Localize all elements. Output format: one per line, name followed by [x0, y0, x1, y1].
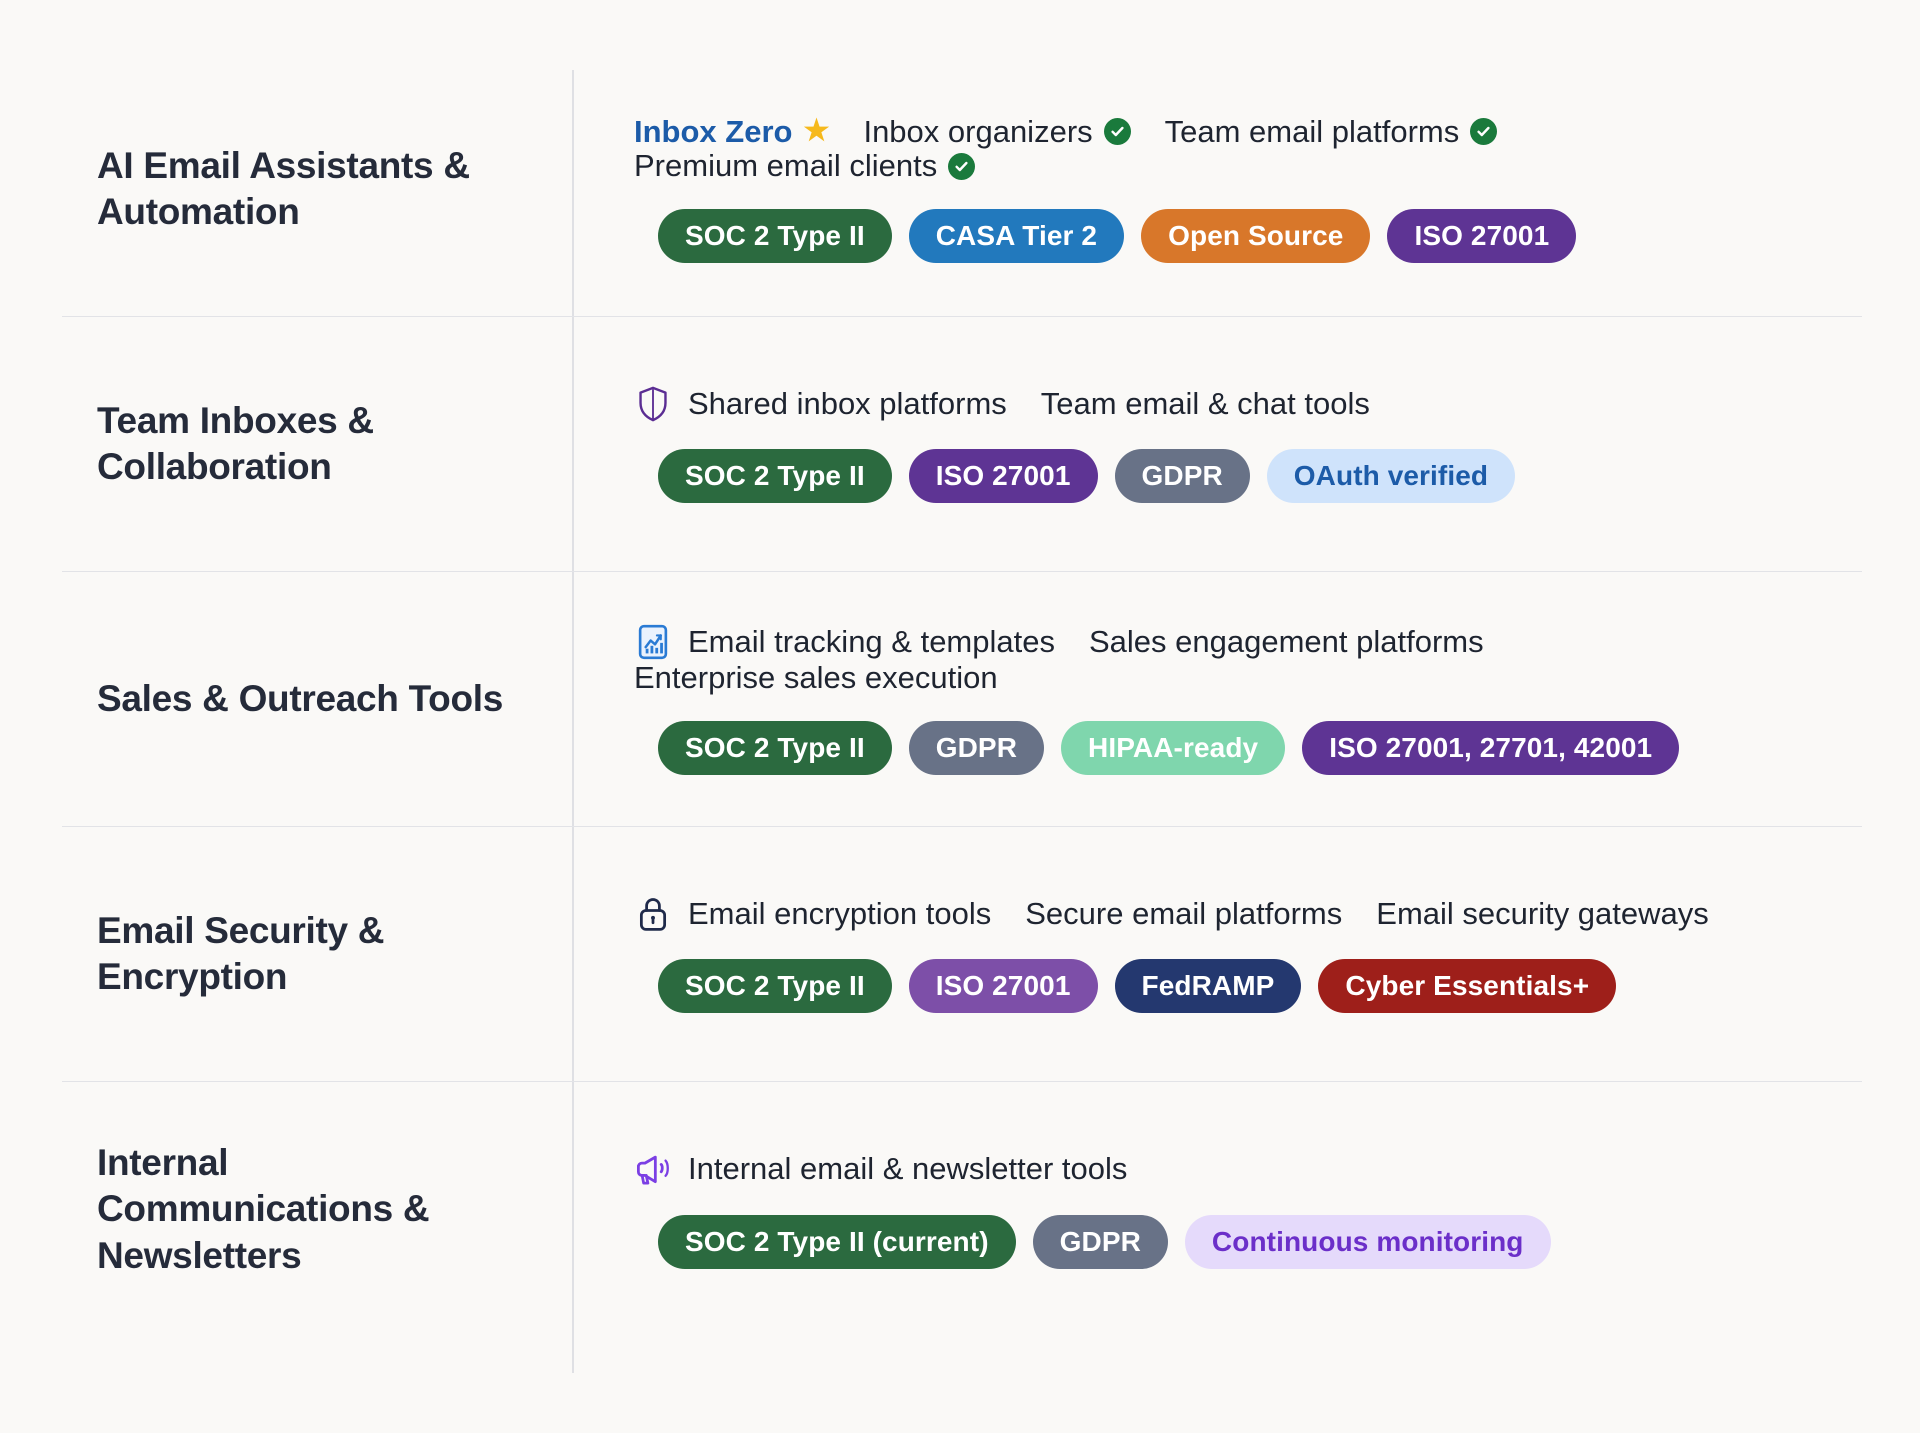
compliance-badge[interactable]: GDPR: [1115, 449, 1250, 503]
category-title: Sales & Outreach Tools: [97, 676, 503, 722]
item-list: Email encryption toolsSecure email platf…: [634, 895, 1842, 933]
matrix-row: Sales & Outreach ToolsEmail tracking & t…: [62, 572, 1862, 827]
item-label: Email encryption tools: [688, 897, 991, 931]
category-title: AI Email Assistants & Automation: [97, 143, 532, 236]
row-body-ai-email-assistants-automation: Inbox Zero★Inbox organizersTeam email pl…: [572, 62, 1862, 316]
list-item: Premium email clients: [634, 149, 975, 183]
matrix-row: Internal Communications & NewslettersInt…: [62, 1082, 1862, 1337]
compliance-badge[interactable]: FedRAMP: [1115, 959, 1302, 1013]
item-list: Inbox Zero★Inbox organizersTeam email pl…: [634, 115, 1842, 183]
list-item: Email encryption tools: [688, 897, 991, 931]
row-label-sales-outreach-tools: Sales & Outreach Tools: [62, 572, 572, 826]
list-item: Shared inbox platforms: [688, 387, 1007, 421]
item-list: Internal email & newsletter tools: [634, 1151, 1842, 1189]
comparison-matrix-page: AI Email Assistants & AutomationInbox Ze…: [0, 0, 1920, 1433]
item-label: Team email platforms: [1165, 115, 1460, 149]
item-label: Shared inbox platforms: [688, 387, 1007, 421]
list-item: Team email platforms: [1165, 115, 1498, 149]
item-label: Premium email clients: [634, 149, 937, 183]
category-matrix: AI Email Assistants & AutomationInbox Ze…: [62, 62, 1862, 1387]
compliance-badge[interactable]: OAuth verified: [1267, 449, 1515, 503]
item-label: Inbox organizers: [863, 115, 1092, 149]
compliance-badge[interactable]: SOC 2 Type II: [658, 959, 892, 1013]
list-item: Internal email & newsletter tools: [688, 1152, 1127, 1186]
compliance-badge[interactable]: SOC 2 Type II (current): [658, 1215, 1016, 1269]
compliance-badge[interactable]: ISO 27001: [909, 959, 1098, 1013]
row-label-email-security-encryption: Email Security & Encryption: [62, 827, 572, 1081]
item-label: Inbox Zero: [634, 115, 792, 149]
compliance-badge[interactable]: GDPR: [1033, 1215, 1168, 1269]
list-item: Email security gateways: [1376, 897, 1709, 931]
compliance-badge[interactable]: Continuous monitoring: [1185, 1215, 1551, 1269]
category-title: Team Inboxes & Collaboration: [97, 398, 532, 491]
item-label: Email security gateways: [1376, 897, 1709, 931]
category-title: Email Security & Encryption: [97, 908, 532, 1001]
compliance-badge[interactable]: ISO 27001: [1387, 209, 1576, 263]
shield-icon: [634, 385, 672, 423]
compliance-badge[interactable]: SOC 2 Type II: [658, 721, 892, 775]
badge-list: SOC 2 Type IIGDPRHIPAA-readyISO 27001, 2…: [634, 721, 1842, 775]
row-body-sales-outreach-tools: Email tracking & templatesSales engageme…: [572, 572, 1862, 826]
row-label-ai-email-assistants-automation: AI Email Assistants & Automation: [62, 62, 572, 316]
badge-list: SOC 2 Type II (current)GDPRContinuous mo…: [634, 1215, 1842, 1269]
badge-list: SOC 2 Type IIISO 27001FedRAMPCyber Essen…: [634, 959, 1842, 1013]
list-item: Team email & chat tools: [1041, 387, 1370, 421]
list-item: Email tracking & templates: [688, 625, 1055, 659]
compliance-badge[interactable]: HIPAA-ready: [1061, 721, 1285, 775]
row-body-internal-communications-newsletters: Internal email & newsletter toolsSOC 2 T…: [572, 1082, 1862, 1337]
item-label: Sales engagement platforms: [1089, 625, 1484, 659]
featured-item[interactable]: Inbox Zero★: [634, 115, 829, 149]
item-label: Email tracking & templates: [688, 625, 1055, 659]
list-item: Secure email platforms: [1025, 897, 1342, 931]
matrix-row: Email Security & EncryptionEmail encrypt…: [62, 827, 1862, 1082]
chart-icon: [634, 623, 672, 661]
item-label: Enterprise sales execution: [634, 661, 998, 695]
compliance-badge[interactable]: GDPR: [909, 721, 1044, 775]
megaphone-icon: [634, 1151, 672, 1189]
row-body-team-inboxes-collaboration: Shared inbox platformsTeam email & chat …: [572, 317, 1862, 571]
badge-list: SOC 2 Type IIISO 27001GDPROAuth verified: [634, 449, 1842, 503]
list-item: Sales engagement platforms: [1089, 625, 1484, 659]
row-label-internal-communications-newsletters: Internal Communications & Newsletters: [62, 1082, 572, 1337]
item-list: Email tracking & templatesSales engageme…: [634, 623, 1842, 695]
item-label: Team email & chat tools: [1041, 387, 1370, 421]
item-label: Secure email platforms: [1025, 897, 1342, 931]
row-label-team-inboxes-collaboration: Team Inboxes & Collaboration: [62, 317, 572, 571]
check-circle-icon: [1104, 118, 1131, 145]
compliance-badge[interactable]: Open Source: [1141, 209, 1370, 263]
row-body-email-security-encryption: Email encryption toolsSecure email platf…: [572, 827, 1862, 1081]
compliance-badge[interactable]: Cyber Essentials+: [1318, 959, 1616, 1013]
badge-list: SOC 2 Type IICASA Tier 2Open SourceISO 2…: [634, 209, 1842, 263]
compliance-badge[interactable]: ISO 27001: [909, 449, 1098, 503]
compliance-badge[interactable]: ISO 27001, 27701, 42001: [1302, 721, 1679, 775]
lock-icon: [634, 895, 672, 933]
item-label: Internal email & newsletter tools: [688, 1152, 1127, 1186]
matrix-row: Team Inboxes & CollaborationShared inbox…: [62, 317, 1862, 572]
matrix-row: AI Email Assistants & AutomationInbox Ze…: [62, 62, 1862, 317]
list-item: Enterprise sales execution: [634, 661, 998, 695]
compliance-badge[interactable]: SOC 2 Type II: [658, 449, 892, 503]
check-circle-icon: [948, 153, 975, 180]
check-circle-icon: [1470, 118, 1497, 145]
category-title: Internal Communications & Newsletters: [97, 1140, 532, 1279]
item-list: Shared inbox platformsTeam email & chat …: [634, 385, 1842, 423]
star-icon: ★: [803, 117, 829, 146]
compliance-badge[interactable]: SOC 2 Type II: [658, 209, 892, 263]
list-item: Inbox organizers: [863, 115, 1130, 149]
compliance-badge[interactable]: CASA Tier 2: [909, 209, 1124, 263]
